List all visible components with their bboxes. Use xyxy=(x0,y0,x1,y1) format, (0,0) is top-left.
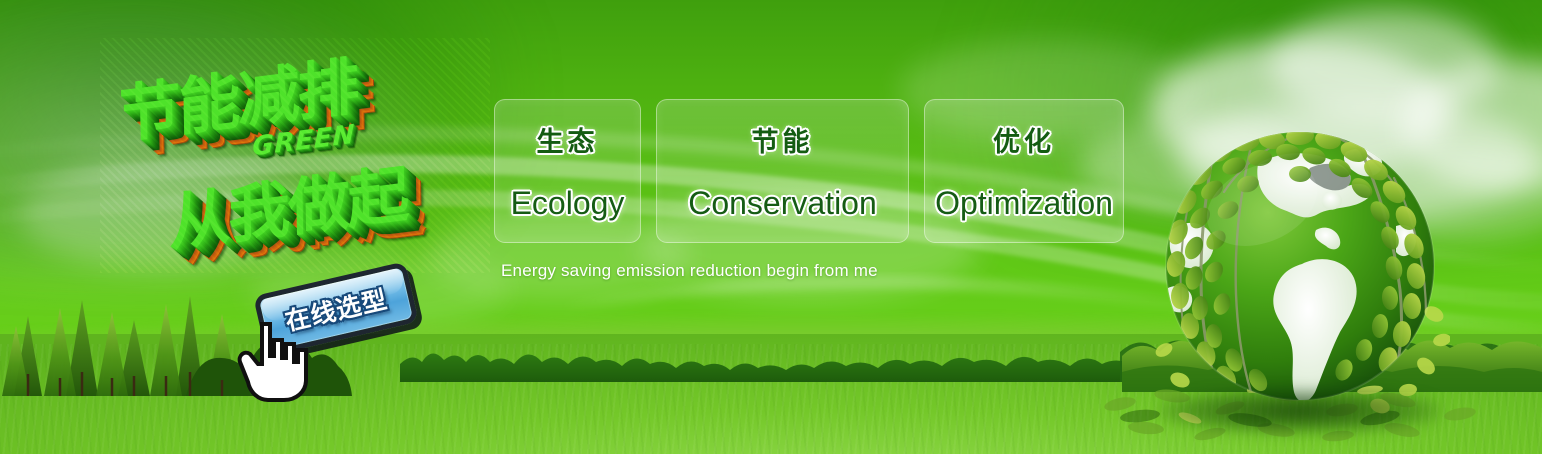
hero-title-line2: 从我做起 xyxy=(168,143,408,263)
globe-shadow xyxy=(1160,388,1440,434)
eco-banner: 节能减排 GREEN 从我做起 在线选型 生态 Ecology 节能 Conse… xyxy=(0,0,1542,454)
feature-card-cn-label: 生态 xyxy=(537,120,599,159)
feature-card-cn-label: 节能 xyxy=(752,120,814,159)
feature-cards: 生态 Ecology 节能 Conservation 优化 Optimizati… xyxy=(494,99,1124,243)
hero-title-3d: 节能减排 GREEN 从我做起 xyxy=(100,38,490,273)
leafy-earth-globe xyxy=(1150,118,1450,428)
feature-card-ecology[interactable]: 生态 Ecology xyxy=(494,99,641,243)
tagline: Energy saving emission reduction begin f… xyxy=(501,261,878,281)
feature-card-conservation[interactable]: 节能 Conservation xyxy=(656,99,909,243)
feature-card-cn-label: 优化 xyxy=(993,120,1055,159)
feature-card-en-label: Conservation xyxy=(688,185,877,222)
feature-card-optimization[interactable]: 优化 Optimization xyxy=(924,99,1124,243)
hand-pointer-icon xyxy=(236,318,316,406)
leafy-earth-globe-icon xyxy=(1150,118,1450,428)
feature-card-en-label: Optimization xyxy=(935,185,1113,222)
feature-card-en-label: Ecology xyxy=(511,185,625,222)
